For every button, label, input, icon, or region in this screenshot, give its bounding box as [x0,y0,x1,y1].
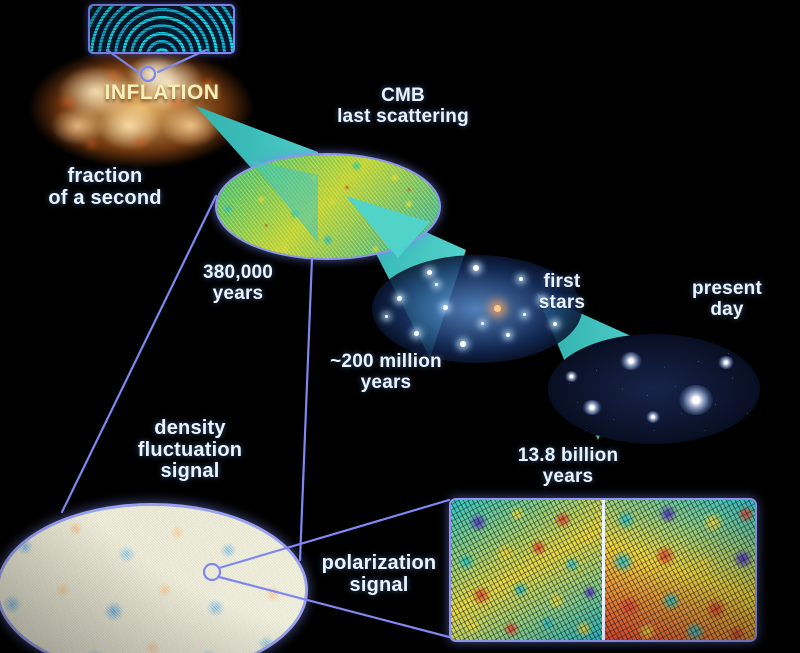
density-to-polarization-line-bottom [219,577,449,637]
density-zoom-marker [204,564,220,580]
cosmic-history-diagram: INFLATION fraction of a second CMB last … [0,0,800,653]
cmb-to-density-line-right [300,258,312,560]
density-to-polarization-line-top [219,500,449,568]
callout-lines-layer [0,0,800,653]
inset-pointer-left [107,50,138,72]
inset-pointer-right [158,50,206,72]
cmb-to-density-line-left [62,196,216,512]
inset-anchor-circle [141,67,155,81]
